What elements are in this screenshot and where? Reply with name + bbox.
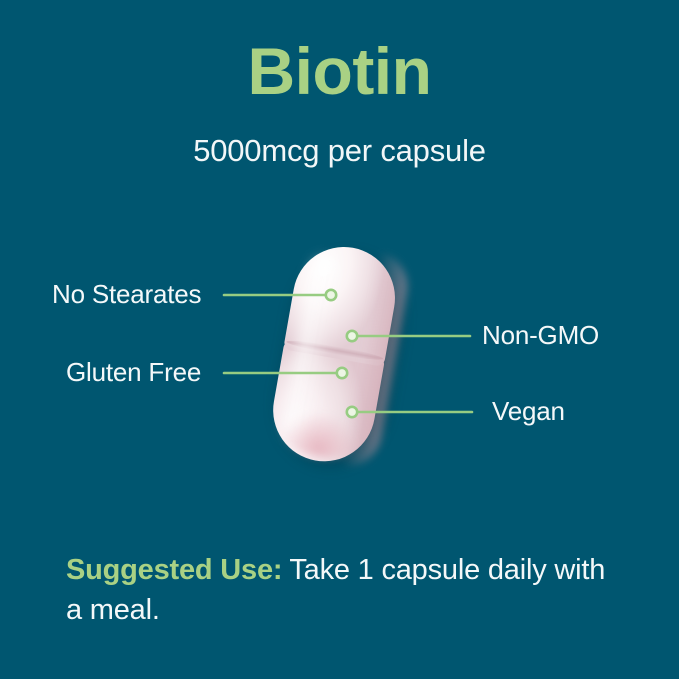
- callout-label-gluten-free: Gluten Free: [66, 359, 201, 385]
- page-title: Biotin: [0, 38, 679, 104]
- suggested-use-heading: Suggested Use:: [66, 554, 282, 586]
- callout-label-non-gmo: Non-GMO: [482, 322, 599, 348]
- capsule-illustration: [265, 239, 413, 471]
- callout-label-vegan: Vegan: [492, 398, 565, 424]
- product-dosage-subtitle: 5000mcg per capsule: [0, 134, 679, 168]
- suggested-use-block: Suggested Use:Take 1 capsule daily with …: [66, 550, 626, 630]
- callout-label-no-stearates: No Stearates: [52, 281, 201, 307]
- product-infographic: Biotin 5000mcg per capsule No Stearates …: [0, 0, 679, 679]
